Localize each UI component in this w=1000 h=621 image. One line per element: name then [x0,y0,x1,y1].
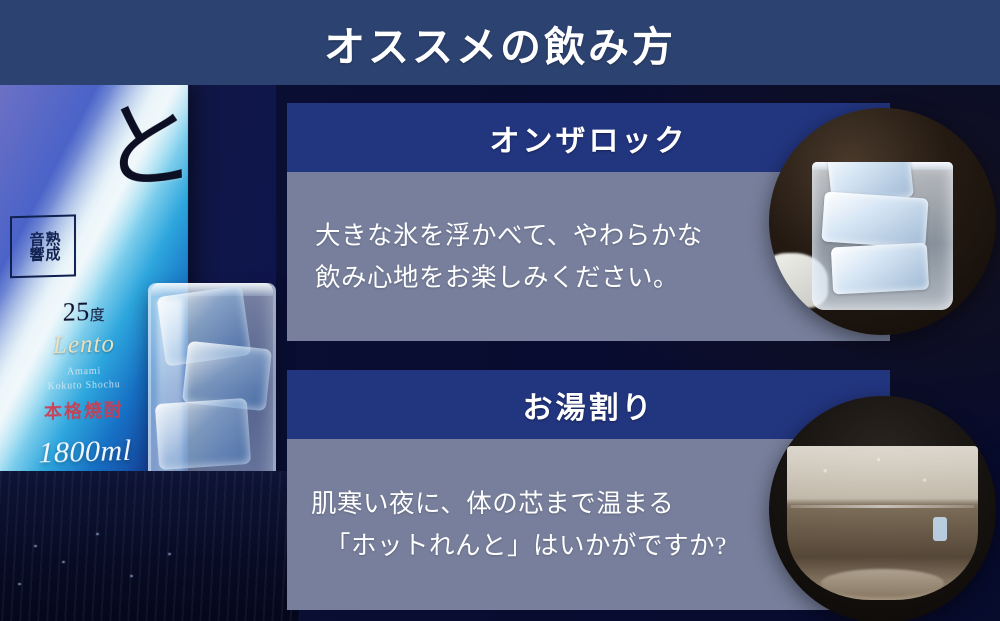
banner-header: オススメの飲み方 [0,0,1000,85]
ice-cube [822,191,929,248]
hot-drink-photo [769,396,996,621]
card-title: お湯割り [523,383,655,427]
condensation [787,446,978,508]
glass-base [821,569,943,597]
ice-cube [831,243,929,295]
promo-banner: と 音響 熟成 25度 Lento Amami Kokuto Shochu 本格… [0,0,1000,621]
glass-highlight [933,517,947,541]
stamp-text-right: 音響 [28,231,43,261]
table-surface [0,471,300,621]
rocks-glass [812,162,953,310]
alcohol-value: 25 [63,297,90,327]
alcohol-unit: 度 [90,308,106,324]
liquid-surface [791,505,974,508]
hot-glass [787,446,978,600]
card-title-bar: お湯割り [287,370,890,439]
page-title: オススメの飲み方 [324,13,676,73]
on-the-rocks-photo [769,108,996,335]
package-aging-stamp: 音響 熟成 [10,214,76,278]
stamp-text-left: 熟成 [44,231,59,261]
card-title: オンザロック [490,116,688,160]
package-kana-character: と [98,96,197,198]
